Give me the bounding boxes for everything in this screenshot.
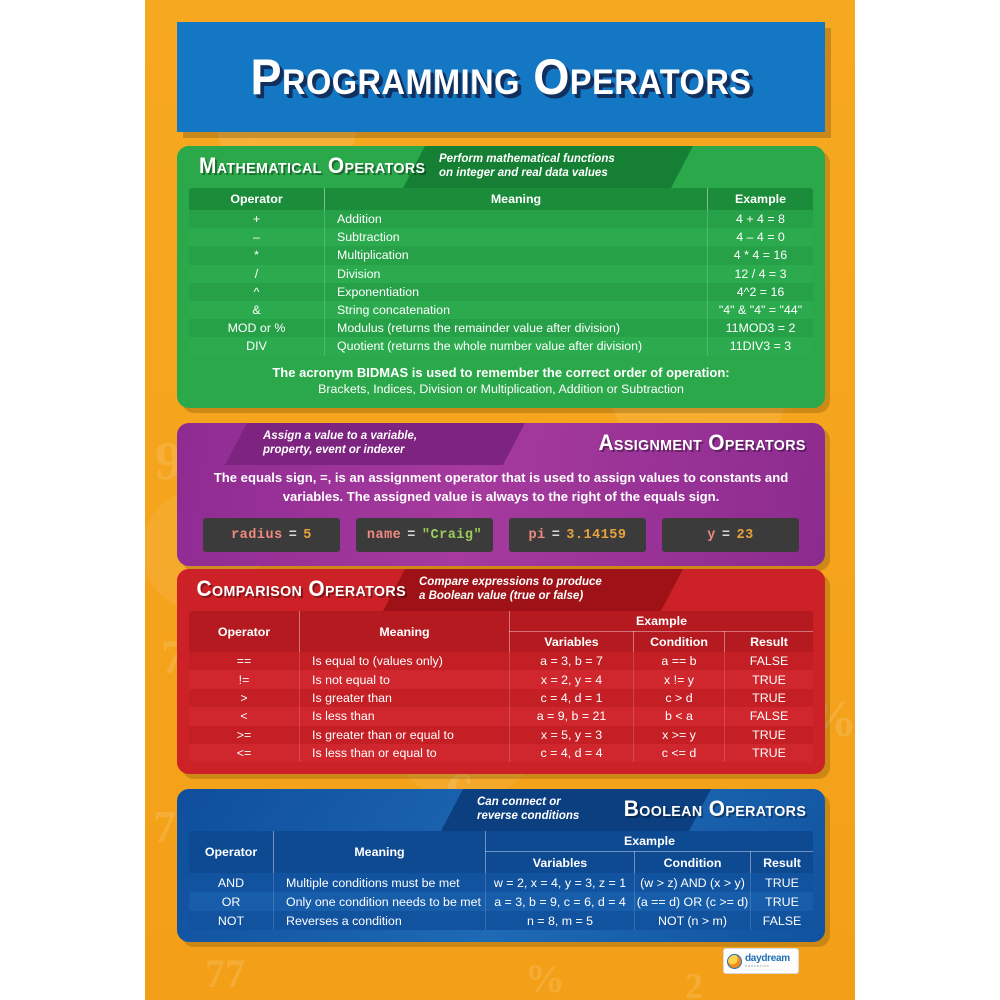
bool-variables: n = 8, m = 5 [486, 911, 635, 930]
cmp-result: FALSE [725, 707, 814, 725]
cmp-meaning: Is greater than or equal to [300, 726, 510, 744]
comparison-subtitle-line1: Compare expressions to produce [419, 575, 602, 589]
math-footnote-pre: The acronym [272, 365, 357, 380]
bool-col-meaning: Meaning [274, 831, 486, 873]
math-example: 11DIV3 = 3 [708, 337, 814, 355]
bool-operator: OR [189, 892, 274, 911]
daydream-education-logo: daydream education [723, 948, 799, 974]
math-operator: / [189, 265, 325, 283]
bool-variables: w = 2, x = 4, y = 3, z = 1 [486, 873, 635, 892]
math-footnote-acronym: BIDMAS [357, 365, 408, 380]
math-section-title: Mathematical Operators [199, 153, 425, 179]
logo-brand-name: daydream [745, 954, 790, 964]
math-section-subtitle: Perform mathematical functions on intege… [439, 152, 615, 180]
bool-condition: (w > z) AND (x > y) [635, 873, 751, 892]
math-example: "4" & "4" = "44" [708, 301, 814, 319]
code-example: y = 23 [662, 518, 799, 552]
cmp-variables: x = 5, y = 3 [510, 726, 634, 744]
comparison-table-container: Operator Meaning Example Variables Condi… [189, 611, 813, 762]
code-variable: pi [528, 528, 545, 543]
cmp-condition: c <= d [634, 744, 725, 762]
background-watermark: % [525, 955, 565, 1000]
math-operators-table: Operator Meaning Example + Addition 4 + … [189, 188, 813, 356]
cmp-meaning: Is greater than [300, 689, 510, 707]
table-row: + Addition 4 + 4 = 8 [189, 210, 813, 228]
assignment-section-header: Assignment Operators Assign a value to a… [177, 423, 825, 465]
code-example: name = "Craig" [356, 518, 493, 552]
math-footnote: The acronym BIDMAS is used to remember t… [177, 356, 825, 408]
cmp-variables: a = 9, b = 21 [510, 707, 634, 725]
table-row: < Is less than a = 9, b = 21 b < a FALSE [189, 707, 813, 725]
bool-condition: NOT (n > m) [635, 911, 751, 930]
code-variable: y [707, 528, 716, 543]
bool-result: TRUE [751, 892, 814, 911]
boolean-section-title: Boolean Operators [624, 796, 806, 822]
math-footnote-post: is used to remember the correct order of… [408, 365, 729, 380]
cmp-variables: x = 2, y = 4 [510, 670, 634, 688]
logo-text: daydream education [745, 954, 790, 968]
math-operator: ^ [189, 283, 325, 301]
daydream-logo-icon [727, 954, 742, 969]
cmp-operator: > [189, 689, 300, 707]
math-subtitle-line1: Perform mathematical functions [439, 152, 615, 166]
assignment-subtitle-line2: property, event or indexer [263, 443, 417, 457]
table-row: MOD or % Modulus (returns the remainder … [189, 319, 813, 337]
boolean-subtitle-line2: reverse conditions [477, 809, 579, 823]
cmp-condition: x != y [634, 670, 725, 688]
boolean-section-subtitle: Can connect or reverse conditions [477, 795, 579, 823]
cmp-col-result: Result [725, 632, 814, 653]
code-equals: = [716, 528, 737, 543]
math-example: 4 – 4 = 0 [708, 228, 814, 246]
cmp-operator: == [189, 652, 300, 670]
poster-title-bar: Programming Operators [177, 22, 825, 132]
cmp-operator: != [189, 670, 300, 688]
cmp-condition: b < a [634, 707, 725, 725]
cmp-col-example: Example [510, 611, 814, 632]
code-equals: = [546, 528, 567, 543]
math-meaning: Modulus (returns the remainder value aft… [325, 319, 708, 337]
math-section-header: Mathematical Operators Perform mathemati… [177, 146, 825, 188]
bool-col-variables: Variables [486, 852, 635, 874]
math-meaning: Exponentiation [325, 283, 708, 301]
math-meaning: Subtraction [325, 228, 708, 246]
code-equals: = [283, 528, 304, 543]
cmp-variables: c = 4, d = 4 [510, 744, 634, 762]
assignment-subtitle-line1: Assign a value to a variable, [263, 429, 417, 443]
math-col-meaning: Meaning [325, 188, 708, 210]
table-row: DIV Quotient (returns the whole number v… [189, 337, 813, 355]
cmp-condition: x >= y [634, 726, 725, 744]
comparison-subtitle-line2: a Boolean value (true or false) [419, 589, 602, 603]
logo-brand-tagline: education [745, 965, 790, 968]
math-example: 4 * 4 = 16 [708, 246, 814, 264]
math-footnote-line1: The acronym BIDMAS is used to remember t… [187, 364, 815, 382]
cmp-meaning: Is not equal to [300, 670, 510, 688]
cmp-result: TRUE [725, 670, 814, 688]
comparison-section-title: Comparison Operators [197, 576, 406, 602]
table-header-row: Operator Meaning Example [189, 611, 813, 632]
math-meaning: String concatenation [325, 301, 708, 319]
table-header-row: Operator Meaning Example [189, 831, 813, 852]
math-example: 4^2 = 16 [708, 283, 814, 301]
section-assignment-operators: Assignment Operators Assign a value to a… [177, 423, 825, 566]
assignment-section-subtitle: Assign a value to a variable, property, … [263, 429, 417, 457]
boolean-table-container: Operator Meaning Example Variables Condi… [189, 831, 813, 930]
bool-result: TRUE [751, 873, 814, 892]
cmp-operator: >= [189, 726, 300, 744]
table-row: * Multiplication 4 * 4 = 16 [189, 246, 813, 264]
table-row: > Is greater than c = 4, d = 1 c > d TRU… [189, 689, 813, 707]
table-row: AND Multiple conditions must be met w = … [189, 873, 813, 892]
math-example: 12 / 4 = 3 [708, 265, 814, 283]
code-equals: = [401, 528, 422, 543]
cmp-col-operator: Operator [189, 611, 300, 652]
cmp-operator: < [189, 707, 300, 725]
page-title: Programming Operators [200, 22, 803, 132]
math-subtitle-line2: on integer and real data values [439, 166, 615, 180]
code-value: 5 [303, 528, 312, 543]
table-row: != Is not equal to x = 2, y = 4 x != y T… [189, 670, 813, 688]
math-footnote-line2: Brackets, Indices, Division or Multiplic… [187, 381, 815, 398]
bool-condition: (a == d) OR (c >= d) [635, 892, 751, 911]
code-example: pi = 3.14159 [509, 518, 646, 552]
poster-canvas: 9 7 7 5/6 % 6 77 % 2 8 Programming Opera… [145, 0, 855, 1000]
bool-operator: NOT [189, 911, 274, 930]
math-operator: & [189, 301, 325, 319]
table-row: >= Is greater than or equal to x = 5, y … [189, 726, 813, 744]
section-mathematical-operators: Mathematical Operators Perform mathemati… [177, 146, 825, 408]
bool-col-condition: Condition [635, 852, 751, 874]
section-boolean-operators: Boolean Operators Can connect or reverse… [177, 789, 825, 942]
bool-result: FALSE [751, 911, 814, 930]
math-col-operator: Operator [189, 188, 325, 210]
assignment-examples: radius = 5 name = "Craig" pi = 3.14159 y… [203, 518, 799, 552]
bool-col-operator: Operator [189, 831, 274, 873]
cmp-result: FALSE [725, 652, 814, 670]
table-row: ^ Exponentiation 4^2 = 16 [189, 283, 813, 301]
table-row: <= Is less than or equal to c = 4, d = 4… [189, 744, 813, 762]
math-operator: – [189, 228, 325, 246]
cmp-result: TRUE [725, 726, 814, 744]
cmp-meaning: Is less than [300, 707, 510, 725]
assignment-body: The equals sign, =, is an assignment ope… [177, 465, 825, 566]
code-value: "Craig" [422, 528, 482, 543]
section-comparison-operators: Comparison Operators Compare expressions… [177, 569, 825, 774]
math-table-container: Operator Meaning Example + Addition 4 + … [189, 188, 813, 356]
cmp-col-variables: Variables [510, 632, 634, 653]
assignment-description: The equals sign, =, is an assignment ope… [203, 469, 799, 506]
code-value: 23 [737, 528, 754, 543]
code-variable: name [367, 528, 401, 543]
table-row: NOT Reverses a condition n = 8, m = 5 NO… [189, 911, 813, 930]
cmp-meaning: Is equal to (values only) [300, 652, 510, 670]
math-operator: DIV [189, 337, 325, 355]
bool-meaning: Only one condition needs to be met [274, 892, 486, 911]
math-operator: * [189, 246, 325, 264]
background-watermark: 2 [685, 965, 703, 1000]
math-operator: + [189, 210, 325, 228]
cmp-result: TRUE [725, 744, 814, 762]
table-row: & String concatenation "4" & "4" = "44" [189, 301, 813, 319]
math-meaning: Multiplication [325, 246, 708, 264]
table-header-row: Operator Meaning Example [189, 188, 813, 210]
bool-meaning: Multiple conditions must be met [274, 873, 486, 892]
bool-operator: AND [189, 873, 274, 892]
table-row: OR Only one condition needs to be met a … [189, 892, 813, 911]
cmp-variables: a = 3, b = 7 [510, 652, 634, 670]
math-meaning: Division [325, 265, 708, 283]
background-watermark: 77 [205, 950, 245, 997]
comparison-section-header: Comparison Operators Compare expressions… [177, 569, 825, 611]
math-example: 4 + 4 = 8 [708, 210, 814, 228]
code-example: radius = 5 [203, 518, 340, 552]
cmp-col-meaning: Meaning [300, 611, 510, 652]
code-variable: radius [231, 528, 283, 543]
bool-variables: a = 3, b = 9, c = 6, d = 4 [486, 892, 635, 911]
code-value: 3.14159 [566, 528, 626, 543]
cmp-variables: c = 4, d = 1 [510, 689, 634, 707]
bool-meaning: Reverses a condition [274, 911, 486, 930]
math-example: 11MOD3 = 2 [708, 319, 814, 337]
bool-col-example: Example [486, 831, 814, 852]
background-watermark: 7 [153, 800, 176, 853]
cmp-result: TRUE [725, 689, 814, 707]
math-col-example: Example [708, 188, 814, 210]
cmp-condition: a == b [634, 652, 725, 670]
table-row: / Division 12 / 4 = 3 [189, 265, 813, 283]
math-meaning: Quotient (returns the whole number value… [325, 337, 708, 355]
table-row: == Is equal to (values only) a = 3, b = … [189, 652, 813, 670]
cmp-meaning: Is less than or equal to [300, 744, 510, 762]
assignment-section-title: Assignment Operators [598, 430, 805, 456]
boolean-operators-table: Operator Meaning Example Variables Condi… [189, 831, 813, 930]
math-operator: MOD or % [189, 319, 325, 337]
cmp-operator: <= [189, 744, 300, 762]
math-meaning: Addition [325, 210, 708, 228]
table-row: – Subtraction 4 – 4 = 0 [189, 228, 813, 246]
cmp-condition: c > d [634, 689, 725, 707]
comparison-operators-table: Operator Meaning Example Variables Condi… [189, 611, 813, 762]
comparison-section-subtitle: Compare expressions to produce a Boolean… [419, 575, 602, 603]
boolean-section-header: Boolean Operators Can connect or reverse… [177, 789, 825, 831]
cmp-col-condition: Condition [634, 632, 725, 653]
boolean-subtitle-line1: Can connect or [477, 795, 579, 809]
bool-col-result: Result [751, 852, 814, 874]
